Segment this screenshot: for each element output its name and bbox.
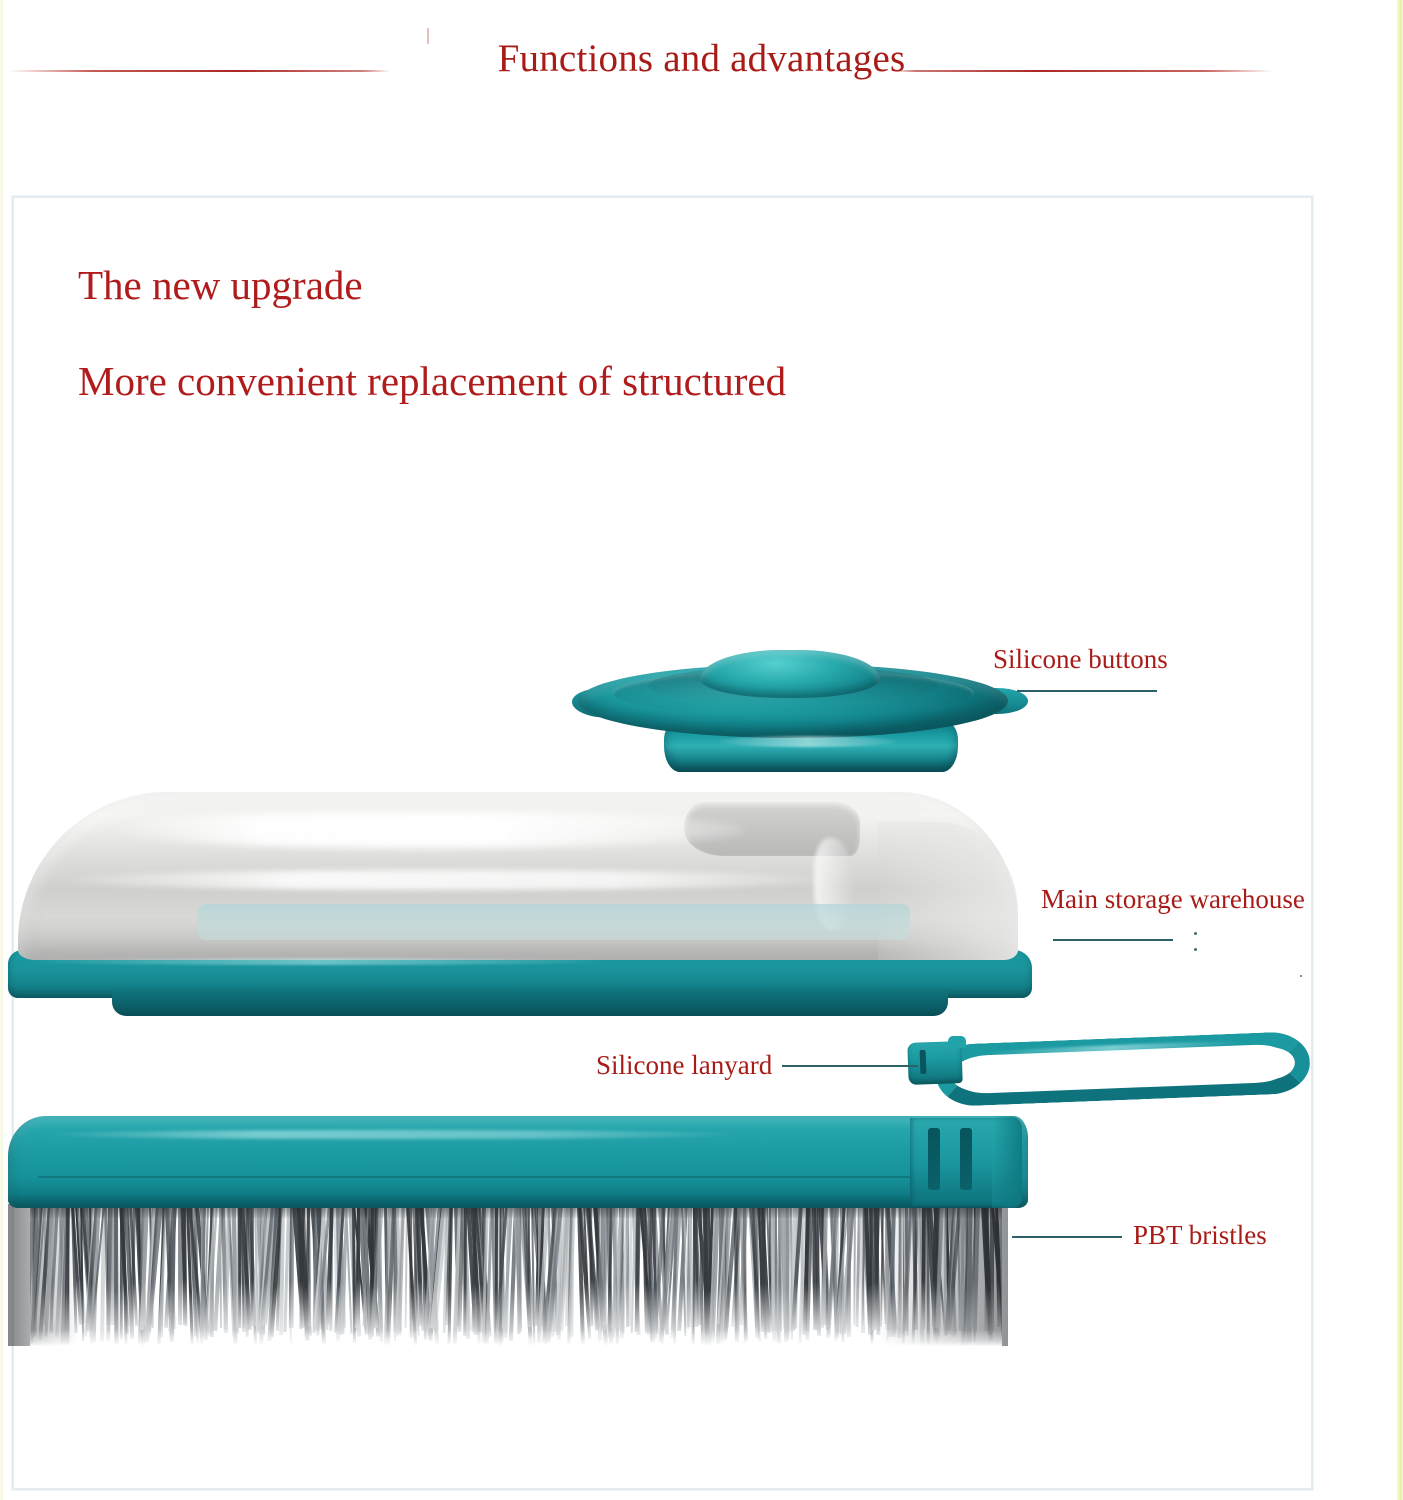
headline-secondary: More convenient replacement of structure… — [78, 361, 786, 402]
callout-leader-silicone-buttons — [1017, 690, 1157, 692]
callout-label-pbt-bristles: PBT bristles — [1133, 1222, 1267, 1249]
callout-leader-main-storage-warehouse — [1053, 939, 1173, 941]
callout-label-silicone-buttons: Silicone buttons — [993, 646, 1168, 673]
bristle — [775, 1204, 778, 1331]
headline-primary: The new upgrade — [78, 265, 363, 306]
callout-label-main-storage-warehouse: Main storage warehouse — [1041, 886, 1305, 913]
header: Functions and advantages — [0, 0, 1403, 185]
silicone-button-part — [578, 636, 1018, 776]
left-edge-stripe — [0, 0, 4, 1500]
callout-dot-storage-far — [1300, 975, 1302, 977]
bristle — [634, 1204, 639, 1331]
storage-warehouse-part — [8, 792, 1038, 1014]
brush-head-part — [8, 1116, 1038, 1356]
callout-dot-storage-upper — [1194, 932, 1197, 935]
brush-notch-slot-left — [928, 1128, 940, 1190]
callout-leader-pbt-bristles — [1012, 1236, 1122, 1238]
storage-dome-inner-fill — [198, 904, 910, 940]
infographic-page: Functions and advantages The new upgrade… — [0, 0, 1403, 1500]
brush-body-highlight — [48, 1130, 738, 1139]
storage-base-highlight — [38, 958, 598, 965]
right-edge-stripe — [1396, 0, 1403, 1500]
pbt-bristle-block — [30, 1204, 1002, 1346]
storage-dome-highlight-top — [104, 812, 744, 848]
brush-notch-slot-right — [960, 1128, 972, 1190]
storage-base-lip — [112, 990, 948, 1016]
brush-body-seam — [38, 1176, 978, 1178]
bristle — [307, 1204, 311, 1326]
callout-dot-storage-lower — [1194, 948, 1197, 951]
silicone-lanyard-part — [908, 1034, 1314, 1112]
bristle — [926, 1204, 930, 1345]
callout-leader-silicone-lanyard — [782, 1065, 918, 1067]
brush-notch-edge — [992, 1116, 1022, 1208]
bristle — [114, 1204, 119, 1344]
lanyard-clip-nub — [948, 1036, 966, 1048]
callout-label-silicone-lanyard: Silicone lanyard — [596, 1052, 772, 1079]
button-cap-top — [700, 650, 880, 698]
lanyard-clip-slot — [920, 1050, 927, 1074]
storage-dome-highlight-band — [68, 870, 828, 890]
button-stem-highlight — [718, 736, 898, 747]
page-title: Functions and advantages — [0, 36, 1403, 83]
